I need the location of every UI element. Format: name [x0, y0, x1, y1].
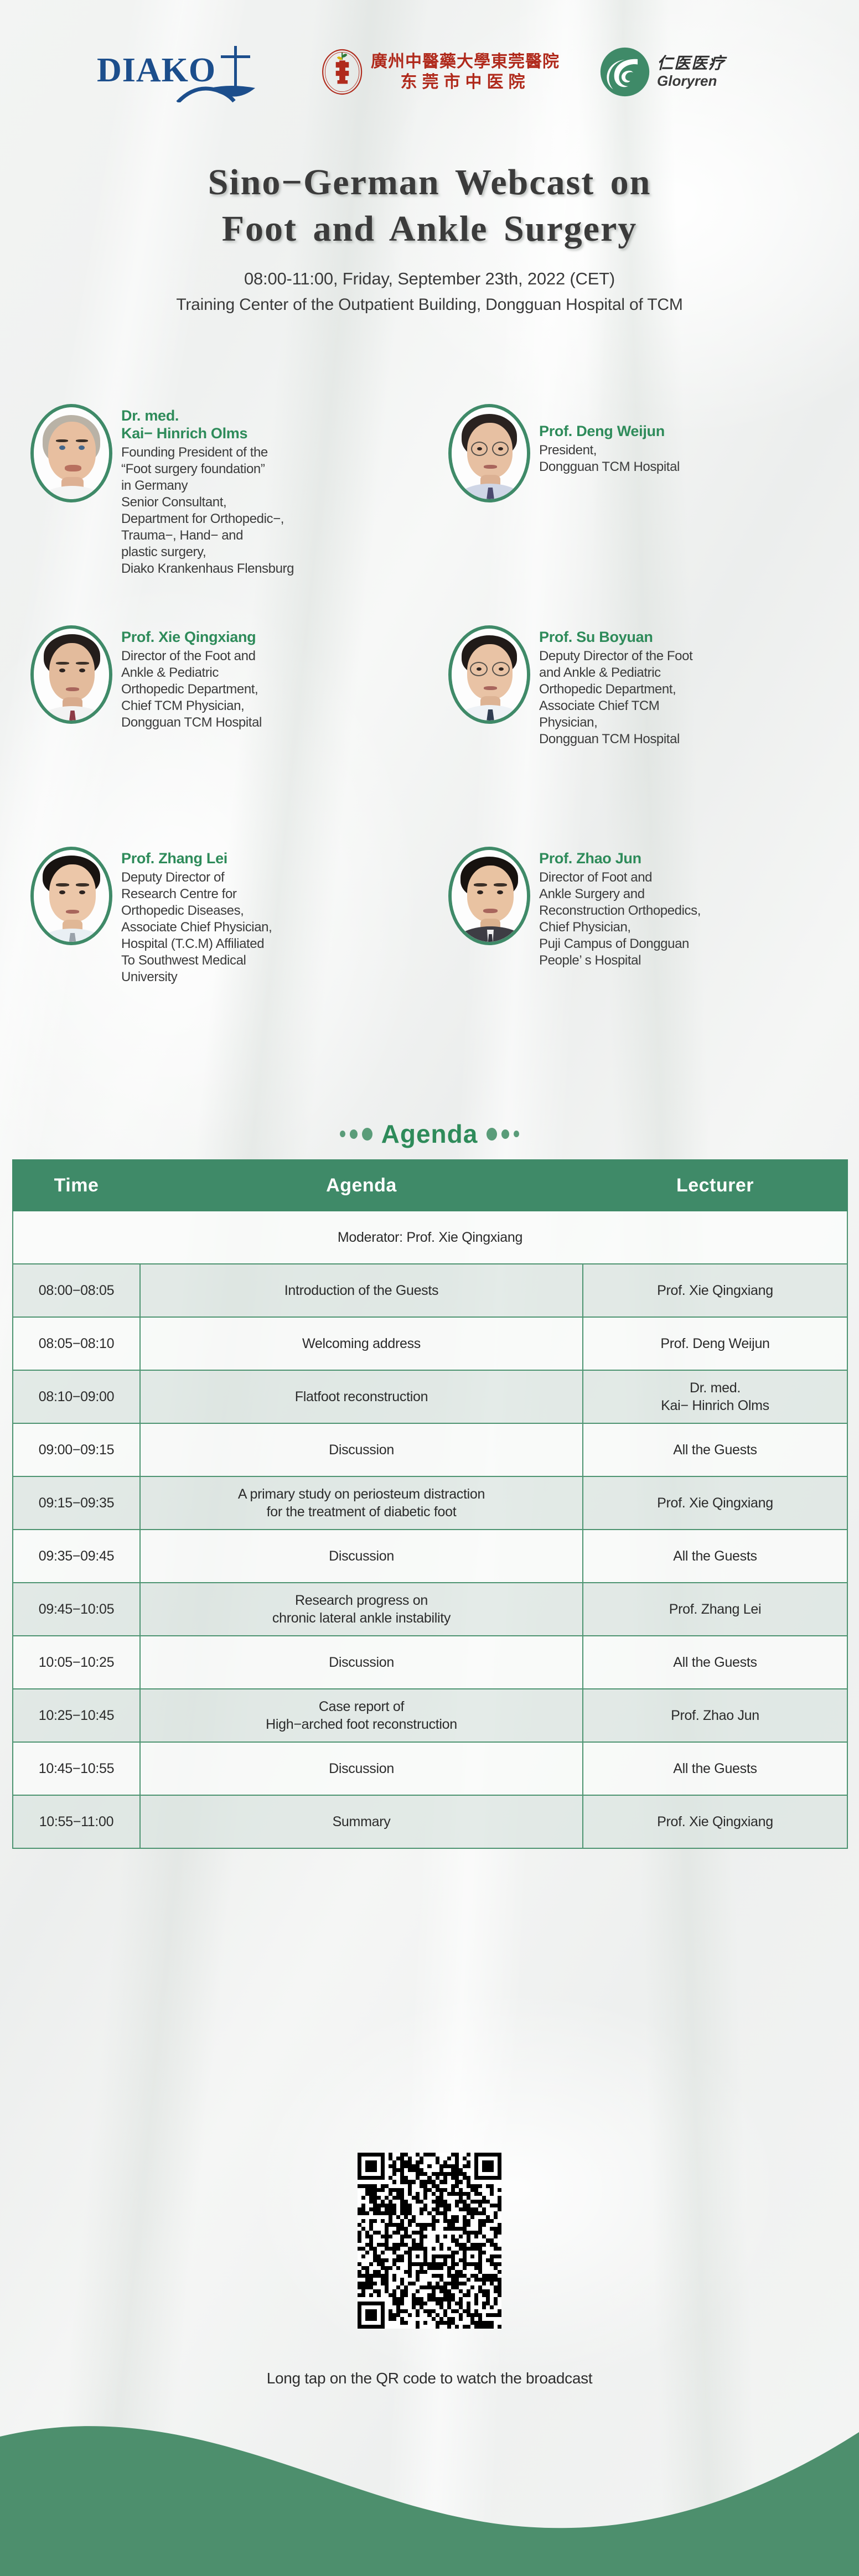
cell-lecturer: All the Guests	[583, 1423, 847, 1476]
table-row: 09:45−10:05 Research progress onchronic …	[13, 1583, 847, 1636]
cell-agenda: Summary	[140, 1795, 583, 1848]
event-subtitle: 08:00-11:00, Friday, September 23th, 202…	[0, 266, 859, 318]
cell-agenda: Flatfoot reconstruction	[140, 1370, 583, 1423]
footer-wave-decoration	[0, 2366, 859, 2576]
moderator-row: Moderator: Prof. Xie Qingxiang	[13, 1211, 847, 1264]
cell-agenda: A primary study on periosteum distractio…	[140, 1476, 583, 1530]
cell-lecturer: Prof. Xie Qingxiang	[583, 1795, 847, 1848]
column-header-time: Time	[13, 1160, 140, 1211]
cell-agenda: Discussion	[140, 1742, 583, 1795]
avatar	[30, 404, 112, 502]
table-row: 09:00−09:15 Discussion All the Guests	[13, 1423, 847, 1476]
table-row: 09:35−09:45 Discussion All the Guests	[13, 1530, 847, 1583]
cell-lecturer: Dr. med.Kai− Hinrich Olms	[583, 1370, 847, 1423]
table-row: 08:10−09:00 Flatfoot reconstruction Dr. …	[13, 1370, 847, 1423]
cell-time: 10:25−10:45	[13, 1689, 140, 1742]
title-line-1: Sino−German Webcast on	[0, 159, 859, 206]
cell-lecturer: All the Guests	[583, 1742, 847, 1795]
table-row: 08:05−08:10 Welcoming address Prof. Deng…	[13, 1317, 847, 1370]
cell-time: 09:15−09:35	[13, 1476, 140, 1530]
cell-agenda: Discussion	[140, 1530, 583, 1583]
avatar	[448, 847, 530, 945]
gloryren-logo: 仁医医疗 Gloryren	[598, 43, 764, 101]
page-title: Sino−German Webcast on Foot and Ankle Su…	[0, 159, 859, 253]
table-row: 10:25−10:45 Case report ofHigh−arched fo…	[13, 1689, 847, 1742]
cell-lecturer: All the Guests	[583, 1636, 847, 1689]
qr-code[interactable]	[358, 2153, 501, 2329]
gloryren-name-cn: 仁医医疗	[657, 55, 726, 73]
event-venue: Training Center of the Outpatient Buildi…	[0, 292, 859, 318]
title-line-2: Foot and Ankle Surgery	[0, 206, 859, 252]
cell-lecturer: Prof. Deng Weijun	[583, 1317, 847, 1370]
speaker-title: Director of Foot andAnkle Surgery andRec…	[539, 869, 701, 969]
speaker-card: Prof. Deng Weijun President,Dongguan TCM…	[448, 404, 836, 502]
cell-time: 08:00−08:05	[13, 1264, 140, 1317]
moderator-label: Moderator: Prof. Xie Qingxiang	[13, 1211, 847, 1264]
cell-agenda: Introduction of the Guests	[140, 1264, 583, 1317]
agenda-table: Time Agenda Lecturer Moderator: Prof. Xi…	[12, 1159, 848, 1849]
cell-time: 08:10−09:00	[13, 1370, 140, 1423]
speaker-name: Prof. Su Boyuan	[539, 629, 692, 646]
gloryren-swirl-icon	[598, 45, 651, 99]
cell-lecturer: Prof. Xie Qingxiang	[583, 1476, 847, 1530]
speaker-name: Prof. Zhao Jun	[539, 850, 701, 868]
cell-time: 10:45−10:55	[13, 1742, 140, 1795]
dots-right-icon	[487, 1128, 519, 1141]
avatar	[448, 625, 530, 724]
diako-logo: DIAKO	[95, 42, 283, 102]
hospital-seal-icon	[322, 39, 363, 105]
event-datetime: 08:00-11:00, Friday, September 23th, 202…	[0, 266, 859, 292]
speaker-title: Deputy Director ofResearch Centre forOrt…	[121, 869, 272, 986]
cell-time: 10:55−11:00	[13, 1795, 140, 1848]
cell-time: 09:45−10:05	[13, 1583, 140, 1636]
speaker-title: Director of the Foot andAnkle & Pediatri…	[121, 648, 262, 731]
speaker-name: Prof. Zhang Lei	[121, 850, 272, 868]
qr-code-section	[0, 2153, 859, 2329]
avatar	[30, 625, 112, 724]
cell-time: 08:05−08:10	[13, 1317, 140, 1370]
cell-agenda: Research progress onchronic lateral ankl…	[140, 1583, 583, 1636]
speaker-title: President,Dongguan TCM Hospital	[539, 442, 680, 475]
table-row: 10:55−11:00 Summary Prof. Xie Qingxiang	[13, 1795, 847, 1848]
table-row: 09:15−09:35 A primary study on periosteu…	[13, 1476, 847, 1530]
hospital-name-cn-line1: 廣州中醫藥大學東莞醫院	[371, 51, 560, 72]
agenda-table-body: Moderator: Prof. Xie Qingxiang 08:00−08:…	[13, 1211, 847, 1848]
cell-lecturer: All the Guests	[583, 1530, 847, 1583]
dots-left-icon	[340, 1128, 372, 1141]
speaker-card: Prof. Xie Qingxiang Director of the Foot…	[30, 625, 407, 731]
gzucm-dongguan-hospital-logo: 廣州中醫藥大學東莞醫院 东莞市中医院	[322, 40, 560, 104]
svg-text:DIAKO: DIAKO	[97, 51, 216, 89]
agenda-heading-label: Agenda	[381, 1119, 478, 1149]
speaker-card: Prof. Zhang Lei Deputy Director ofResear…	[30, 847, 407, 986]
avatar	[448, 404, 530, 502]
logo-row: DIAKO 廣州中醫藥大學東莞醫院 东莞市中医院	[0, 39, 859, 105]
gloryren-name-en: Gloryren	[657, 73, 726, 89]
speaker-title: Deputy Director of the Footand Ankle & P…	[539, 648, 692, 748]
hospital-name-cn-line2: 东莞市中医院	[371, 72, 560, 93]
speaker-card: Prof. Su Boyuan Deputy Director of the F…	[448, 625, 836, 748]
cell-agenda: Case report ofHigh−arched foot reconstru…	[140, 1689, 583, 1742]
speaker-card: Prof. Zhao Jun Director of Foot andAnkle…	[448, 847, 836, 969]
speaker-name: Dr. med.Kai− Hinrich Olms	[121, 407, 294, 443]
table-row: 10:45−10:55 Discussion All the Guests	[13, 1742, 847, 1795]
cell-lecturer: Prof. Zhang Lei	[583, 1583, 847, 1636]
speaker-name: Prof. Deng Weijun	[539, 423, 680, 440]
table-row: 08:00−08:05 Introduction of the Guests P…	[13, 1264, 847, 1317]
cell-time: 09:00−09:15	[13, 1423, 140, 1476]
table-header-row: Time Agenda Lecturer	[13, 1160, 847, 1211]
speaker-name: Prof. Xie Qingxiang	[121, 629, 262, 646]
cell-lecturer: Prof. Zhao Jun	[583, 1689, 847, 1742]
cell-lecturer: Prof. Xie Qingxiang	[583, 1264, 847, 1317]
cell-agenda: Welcoming address	[140, 1317, 583, 1370]
avatar	[30, 847, 112, 945]
speaker-title: Founding President of the“Foot surgery f…	[121, 444, 294, 577]
column-header-agenda: Agenda	[140, 1160, 583, 1211]
cell-agenda: Discussion	[140, 1423, 583, 1476]
table-row: 10:05−10:25 Discussion All the Guests	[13, 1636, 847, 1689]
cell-agenda: Discussion	[140, 1636, 583, 1689]
cell-time: 10:05−10:25	[13, 1636, 140, 1689]
cell-time: 09:35−09:45	[13, 1530, 140, 1583]
speaker-card: Dr. med.Kai− Hinrich Olms Founding Presi…	[30, 404, 407, 577]
poster-root: DIAKO 廣州中醫藥大學東莞醫院 东莞市中医院	[0, 0, 859, 2576]
agenda-heading: Agenda	[0, 1119, 859, 1149]
column-header-lecturer: Lecturer	[583, 1160, 847, 1211]
